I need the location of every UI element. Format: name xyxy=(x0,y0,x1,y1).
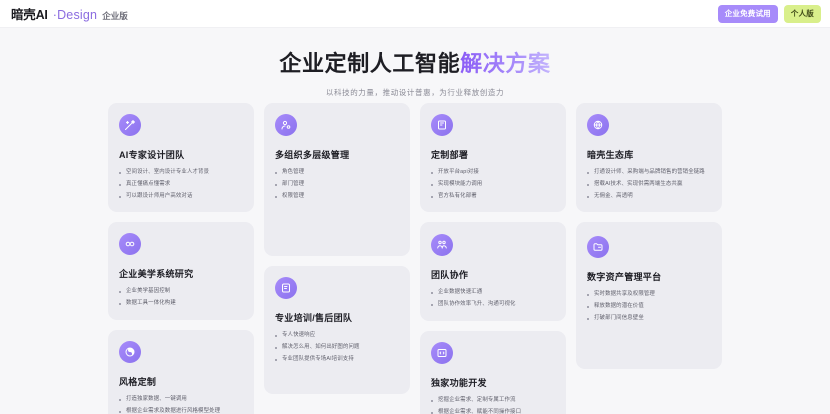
list-item: 根据企业需求、赋能不同操作接口 xyxy=(431,409,555,414)
list-item: 实现模块能力调用 xyxy=(431,181,555,189)
card-title: 专业培训/售后团队 xyxy=(275,311,399,324)
card-bullet-list: 空间设计、室内设计专业人才背景 真正懂痛点懂需求 可以跟设计师用户高效对话 xyxy=(119,169,243,200)
globe-ecosystem-icon xyxy=(587,114,609,136)
grid-column-2: 多组织多层级管理 角色管理 部门管理 权限管理 专业培训/售后团队 专人快速响应… xyxy=(264,103,410,395)
card-title: 团队协作 xyxy=(431,268,555,281)
personal-edition-button[interactable]: 个人版 xyxy=(784,5,821,23)
card-title: 企业美学系统研究 xyxy=(119,267,243,280)
card-bullet-list: 打通设计师、采购端与品牌销售的营销全链路 搭载AI技术、实现供需两端生态共赢 无… xyxy=(587,169,711,200)
card-bullet-list: 实时数据共享及权限管理 释放数据的潜在价值 打破部门间信息壁垒 xyxy=(587,291,711,322)
list-item: 可以跟设计师用户高效对话 xyxy=(119,193,243,201)
list-item: 搭载AI技术、实现供需两端生态共赢 xyxy=(587,181,711,189)
card-bullet-list: 企业美学基因控制 数据工具一体化构建 xyxy=(119,288,243,308)
grid-column-1: AI专家设计团队 空间设计、室内设计专业人才背景 真正懂痛点懂需求 可以跟设计师… xyxy=(108,103,254,395)
feature-card[interactable]: 专业培训/售后团队 专人快速响应 解决怎么用、如何出好图的问题 专业团队提供专场… xyxy=(264,266,410,393)
page-title: 企业定制人工智能解决方案 xyxy=(0,50,830,78)
page-title-accent: 解决方案 xyxy=(460,51,550,76)
team-collaboration-icon xyxy=(431,234,453,256)
card-title: 数字资产管理平台 xyxy=(587,270,711,283)
list-item: 真正懂痛点懂需求 xyxy=(119,181,243,189)
feature-card[interactable]: 数字资产管理平台 实时数据共享及权限管理 释放数据的潜在价值 打破部门间信息壁垒 xyxy=(576,222,722,368)
list-item: 专业团队提供专场AI培训支持 xyxy=(275,356,399,364)
infinity-icon xyxy=(119,233,141,255)
card-title: 独家功能开发 xyxy=(431,376,555,389)
list-item: 释放数据的潜在价值 xyxy=(587,303,711,311)
top-actions: 企业免费试用 个人版 xyxy=(718,5,821,23)
list-item: 企业数据快速汇通 xyxy=(431,289,555,297)
feature-card[interactable]: 风格定制 打造独家数据、一键调用 根据企业需求及数据进行风格模型处理 xyxy=(108,330,254,414)
folder-asset-icon xyxy=(587,236,609,258)
brand-name: 暗壳AI xyxy=(11,4,48,23)
list-item: 打破部门间信息壁垒 xyxy=(587,315,711,323)
code-window-icon xyxy=(431,342,453,364)
list-item: 部门管理 xyxy=(275,181,399,189)
wand-sparkle-icon xyxy=(119,114,141,136)
top-navigation-bar: 暗壳AI ·Design 企业版 企业免费试用 个人版 xyxy=(0,0,830,28)
card-title: 多组织多层级管理 xyxy=(275,148,399,161)
card-bullet-list: 开放平台api对接 实现模块能力调用 官方私有化部署 xyxy=(431,169,555,200)
list-item: 角色管理 xyxy=(275,169,399,177)
card-title: 风格定制 xyxy=(119,375,243,388)
page-root: 暗壳AI ·Design 企业版 企业免费试用 个人版 企业定制人工智能解决方案… xyxy=(0,0,830,414)
card-bullet-list: 挖掘企业需求、定制专属工作流 根据企业需求、赋能不同操作接口 xyxy=(431,397,555,414)
list-item: 权限管理 xyxy=(275,193,399,201)
card-bullet-list: 专人快速响应 解决怎么用、如何出好图的问题 专业团队提供专场AI培训支持 xyxy=(275,332,399,363)
graduation-support-icon xyxy=(275,277,297,299)
feature-card-grid: AI专家设计团队 空间设计、室内设计专业人才背景 真正懂痛点懂需求 可以跟设计师… xyxy=(108,103,722,395)
feature-card[interactable]: 定制部署 开放平台api对接 实现模块能力调用 官方私有化部署 xyxy=(420,103,566,212)
list-item: 数据工具一体化构建 xyxy=(119,300,243,308)
brand-product-name: ·Design xyxy=(53,8,97,22)
brand-logo[interactable]: 暗壳AI ·Design 企业版 xyxy=(11,4,128,23)
list-item: 无佣金、高透明 xyxy=(587,193,711,201)
enterprise-trial-button[interactable]: 企业免费试用 xyxy=(718,5,778,23)
feature-card[interactable]: 独家功能开发 挖掘企业需求、定制专属工作流 根据企业需求、赋能不同操作接口 xyxy=(420,331,566,414)
feature-card[interactable]: 暗壳生态库 打通设计师、采购端与品牌销售的营销全链路 搭载AI技术、实现供需两端… xyxy=(576,103,722,212)
page-title-plain: 企业定制人工智能 xyxy=(279,51,460,76)
feature-card[interactable]: 多组织多层级管理 角色管理 部门管理 权限管理 xyxy=(264,103,410,256)
list-item: 专人快速响应 xyxy=(275,332,399,340)
style-palette-icon xyxy=(119,341,141,363)
list-item: 官方私有化部署 xyxy=(431,193,555,201)
list-item: 根据企业需求及数据进行风格模型处理 xyxy=(119,408,243,414)
list-item: 挖掘企业需求、定制专属工作流 xyxy=(431,397,555,405)
list-item: 打通设计师、采购端与品牌销售的营销全链路 xyxy=(587,169,711,177)
hero-section: 企业定制人工智能解决方案 以科技的力量，推动设计普惠，为行业释放创造力 xyxy=(0,50,830,98)
brand-edition-tag: 企业版 xyxy=(102,10,128,22)
card-title: 定制部署 xyxy=(431,148,555,161)
list-item: 开放平台api对接 xyxy=(431,169,555,177)
feature-card[interactable]: AI专家设计团队 空间设计、室内设计专业人才背景 真正懂痛点懂需求 可以跟设计师… xyxy=(108,103,254,212)
list-item: 空间设计、室内设计专业人才背景 xyxy=(119,169,243,177)
list-item: 团队协作效率飞升、沟通可视化 xyxy=(431,301,555,309)
card-bullet-list: 打造独家数据、一键调用 根据企业需求及数据进行风格模型处理 xyxy=(119,396,243,414)
list-item: 企业美学基因控制 xyxy=(119,288,243,296)
grid-column-4: 暗壳生态库 打通设计师、采购端与品牌销售的营销全链路 搭载AI技术、实现供需两端… xyxy=(576,103,722,395)
page-subtitle: 以科技的力量，推动设计普惠，为行业释放创造力 xyxy=(0,87,830,98)
list-item: 打造独家数据、一键调用 xyxy=(119,396,243,404)
list-item: 解决怎么用、如何出好图的问题 xyxy=(275,344,399,352)
feature-card[interactable]: 企业美学系统研究 企业美学基因控制 数据工具一体化构建 xyxy=(108,222,254,320)
card-bullet-list: 角色管理 部门管理 权限管理 xyxy=(275,169,399,200)
user-gear-icon xyxy=(275,114,297,136)
list-item: 实时数据共享及权限管理 xyxy=(587,291,711,299)
feature-card[interactable]: 团队协作 企业数据快速汇通 团队协作效率飞升、沟通可视化 xyxy=(420,222,566,321)
server-deploy-icon xyxy=(431,114,453,136)
card-title: AI专家设计团队 xyxy=(119,148,243,161)
grid-column-3: 定制部署 开放平台api对接 实现模块能力调用 官方私有化部署 团队协作 企业数… xyxy=(420,103,566,395)
card-title: 暗壳生态库 xyxy=(587,148,711,161)
card-bullet-list: 企业数据快速汇通 团队协作效率飞升、沟通可视化 xyxy=(431,289,555,309)
